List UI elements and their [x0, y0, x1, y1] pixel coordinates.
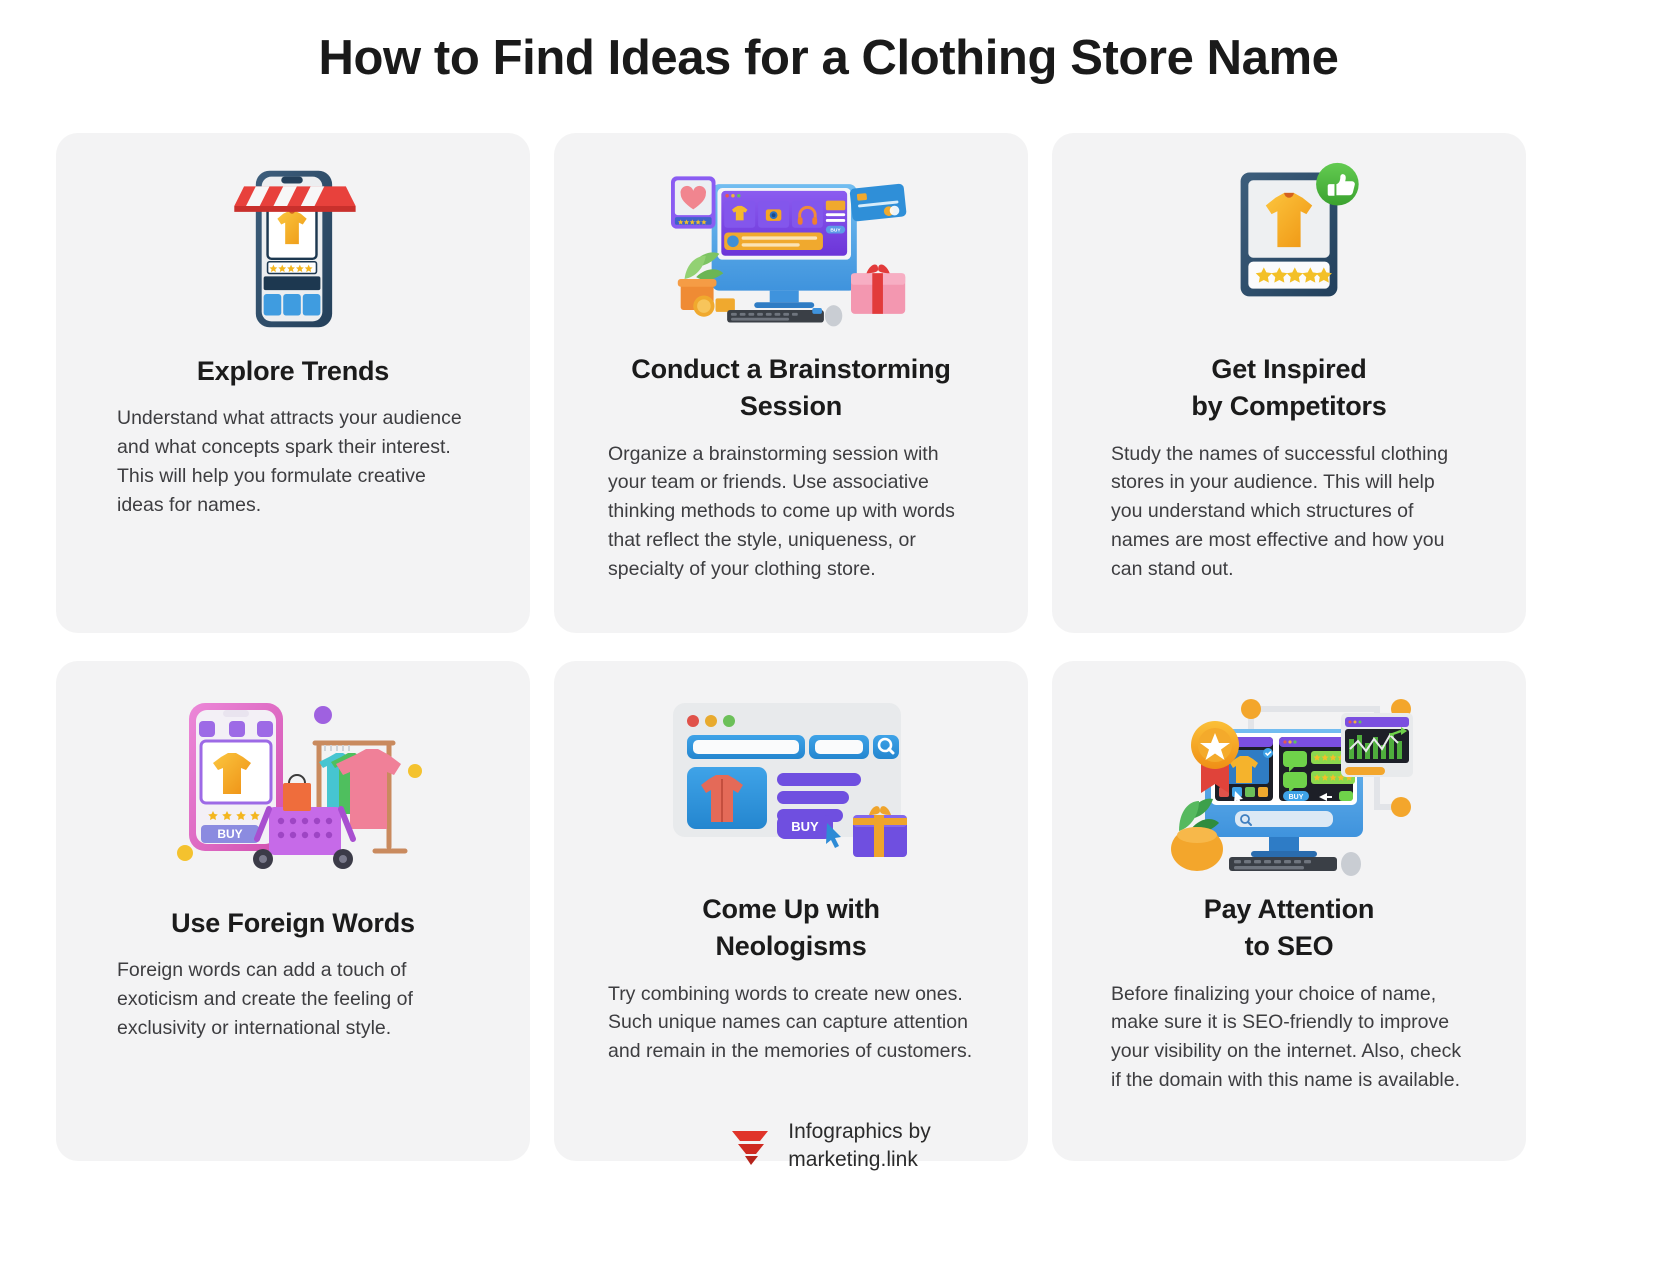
cards-grid: Explore Trends Understand what attracts …: [56, 133, 1601, 1161]
footer-line-1: Infographics by: [788, 1118, 930, 1146]
card-brainstorming-session: BUY: [554, 133, 1028, 633]
footer-credit: Infographics by marketing.link: [788, 1118, 930, 1175]
card-get-inspired-competitors: Get Inspired by Competitors Study the na…: [1052, 133, 1526, 633]
card-title-line-2: by Competitors: [1191, 391, 1386, 421]
card-body: Try combining words to create new ones. …: [608, 980, 974, 1067]
card-come-up-with-neologisms: BUY Come Up with Neologisms Try combinin…: [554, 661, 1028, 1161]
card-title-line-1: Pay Attention: [1204, 894, 1374, 924]
card-pay-attention-to-seo: BUY: [1052, 661, 1526, 1161]
infographic-page: How to Find Ideas for a Clothing Store N…: [0, 0, 1657, 1274]
card-title: Explore Trends: [197, 353, 389, 390]
card-title: Pay Attention to SEO: [1204, 891, 1374, 966]
svg-text:BUY: BUY: [1289, 794, 1304, 801]
product-card-thumbs-up-icon: [1139, 159, 1439, 339]
card-use-foreign-words: BUY: [56, 661, 530, 1161]
svg-text:BUY: BUY: [217, 827, 242, 841]
page-title: How to Find Ideas for a Clothing Store N…: [0, 30, 1657, 86]
card-body: Understand what attracts your audience a…: [117, 404, 469, 519]
card-title: Get Inspired by Competitors: [1191, 351, 1386, 426]
svg-text:BUY: BUY: [830, 228, 841, 234]
mobile-storefront-icon: [143, 159, 443, 341]
svg-text:BUY: BUY: [791, 819, 819, 834]
card-title-line-1: Come Up with: [702, 894, 880, 924]
desktop-ecommerce-icon: BUY: [641, 159, 941, 339]
card-explore-trends: Explore Trends Understand what attracts …: [56, 133, 530, 633]
card-body: Study the names of successful clothing s…: [1111, 440, 1467, 584]
card-title: Conduct a Brainstorming Session: [601, 351, 981, 426]
seo-dashboard-monitor-icon: BUY: [1139, 687, 1439, 881]
card-title-line-2: Neologisms: [715, 931, 866, 961]
card-title: Use Foreign Words: [171, 905, 415, 942]
card-title: Come Up with Neologisms: [702, 891, 880, 966]
card-body: Foreign words can add a touch of exotici…: [117, 956, 469, 1043]
card-body: Before finalizing your choice of name, m…: [1111, 980, 1467, 1095]
card-body: Organize a brainstorming session with yo…: [608, 440, 974, 584]
footer: Infographics by marketing.link: [0, 1118, 1657, 1175]
browser-search-shirt-icon: BUY: [641, 687, 941, 873]
footer-line-2: marketing.link: [788, 1146, 930, 1174]
marketing-link-logo-icon: [726, 1123, 772, 1169]
phone-cart-clothing-rack-icon: BUY: [143, 687, 443, 883]
card-title-line-1: Get Inspired: [1211, 354, 1366, 384]
card-title-line-2: to SEO: [1245, 931, 1334, 961]
